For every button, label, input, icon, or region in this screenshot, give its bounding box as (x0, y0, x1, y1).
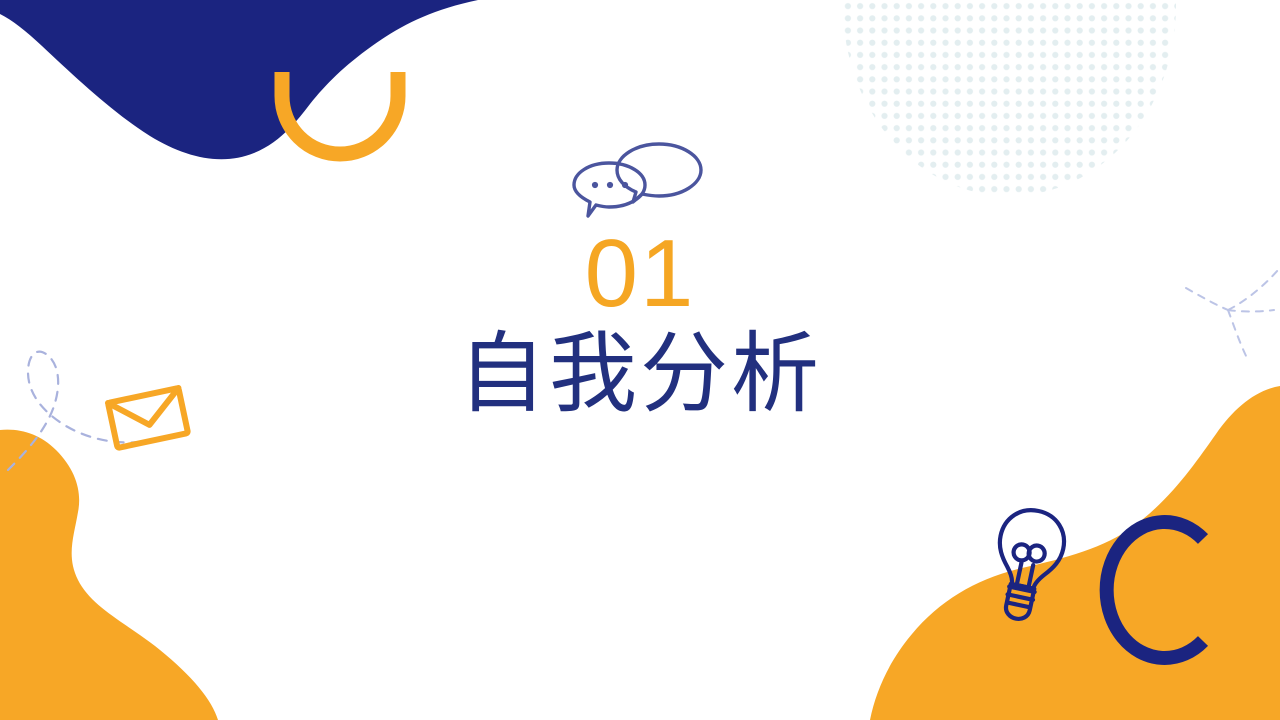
page-title: 自我分析 (0, 326, 1280, 421)
section-number: 01 (0, 226, 1280, 322)
slide-title-block: 01 自我分析 (0, 140, 1280, 421)
orange-blob-bottom-right (870, 386, 1280, 720)
navy-blob-top-left (0, 0, 478, 159)
speech-bubbles-icon (567, 140, 713, 220)
lightbulb-icon (984, 504, 1069, 625)
presentation-slide: 01 自我分析 (0, 0, 1280, 720)
orange-blob-bottom-left (0, 430, 218, 720)
navy-c-arc-bottom-right (1107, 522, 1203, 658)
